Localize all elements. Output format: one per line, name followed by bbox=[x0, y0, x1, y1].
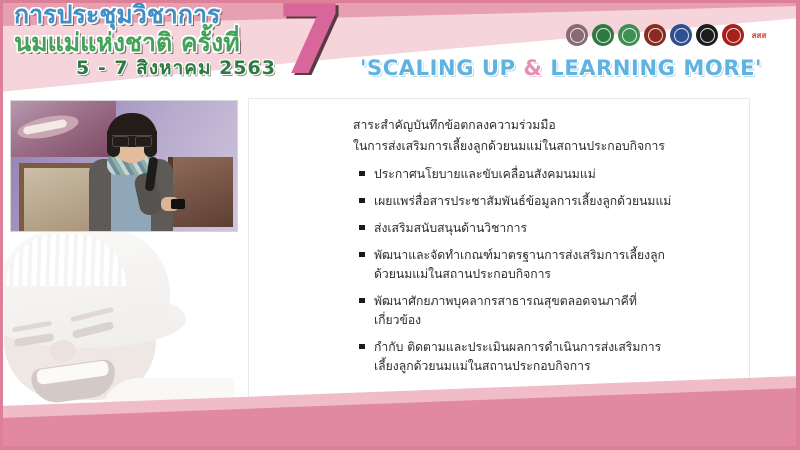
logo-thai-garuda-crest-icon bbox=[670, 24, 692, 46]
agreement-bullet-list: ประกาศนโยบายและขับเคลื่อนสังคมนมแม่เผยแพ… bbox=[357, 165, 739, 384]
tagline-part-1: 'SCALING UP bbox=[360, 56, 524, 80]
bullet-item: เผยแพร่สื่อสารประชาสัมพันธ์ข้อมูลการเลี้… bbox=[357, 192, 739, 211]
content-heading: สาระสำคัญบันทึกข้อตกลงความร่วมมือ ในการส… bbox=[353, 115, 735, 157]
conference-title-line-1: การประชุมวิชาการ bbox=[14, 2, 276, 28]
bullet-item: ประกาศนโยบายและขับเคลื่อนสังคมนมแม่ bbox=[357, 165, 739, 184]
conference-title-block: การประชุมวิชาการ นมแม่แห่งชาติ ครั้งที่ … bbox=[14, 2, 276, 78]
bullet-line-2: เกี่ยวข้อง bbox=[374, 311, 739, 330]
conference-tagline: 'SCALING UP & LEARNING MORE' bbox=[360, 56, 762, 80]
presentation-slide: 7 การประชุมวิชาการ นมแม่แห่งชาติ ครั้งที… bbox=[0, 0, 800, 450]
armchair-right bbox=[168, 157, 233, 227]
presenter-clicker-icon bbox=[171, 199, 185, 209]
bullet-line-1: พัฒนาศักยภาพบุคลากรสาธารณสุขตลอดจนภาคีที… bbox=[374, 292, 739, 311]
bullet-item: พัฒนาและจัดทำเกณฑ์มาตรฐานการส่งเสริมการเ… bbox=[357, 246, 739, 284]
tagline-ampersand: & bbox=[524, 56, 543, 80]
bullet-line-2: ด้วยนมแม่ในสถานประกอบกิจการ bbox=[374, 265, 739, 284]
bullet-item: กำกับ ติดตามและประเมินผลการดำเนินการส่งเ… bbox=[357, 338, 739, 376]
speaker-glasses-icon bbox=[112, 135, 152, 145]
content-heading-line-1: สาระสำคัญบันทึกข้อตกลงความร่วมมือ bbox=[353, 115, 735, 136]
bullet-line-1: กำกับ ติดตามและประเมินผลการดำเนินการส่งเ… bbox=[374, 338, 739, 357]
logo-thai-crest-red-icon bbox=[644, 24, 666, 46]
bullet-line-1: เผยแพร่สื่อสารประชาสัมพันธ์ข้อมูลการเลี้… bbox=[374, 192, 739, 211]
tagline-part-2: LEARNING MORE' bbox=[542, 56, 762, 80]
logo-royal-emblem-icon bbox=[566, 24, 588, 46]
speaker-video-feed[interactable] bbox=[10, 100, 238, 232]
bullet-line-1: พัฒนาและจัดทำเกณฑ์มาตรฐานการส่งเสริมการเ… bbox=[374, 246, 739, 265]
bullet-item: พัฒนาศักยภาพบุคลากรสาธารณสุขตลอดจนภาคีที… bbox=[357, 292, 739, 330]
conference-date: 5 - 7 สิงหาคม 2563 bbox=[76, 59, 276, 78]
bullet-item: ส่งเสริมสนับสนุนด้านวิชาการ bbox=[357, 219, 739, 238]
slide-bottom-band bbox=[0, 376, 800, 450]
logo-red-crest-icon bbox=[722, 24, 744, 46]
content-heading-line-2: ในการส่งเสริมการเลี้ยงลูกด้วยนมแม่ในสถาน… bbox=[353, 136, 735, 157]
conference-title-line-2: นมแม่แห่งชาติ ครั้งที่ bbox=[14, 30, 276, 56]
slide-content-panel: สาระสำคัญบันทึกข้อตกลงความร่วมมือ ในการส… bbox=[248, 98, 750, 402]
bullet-line-1: ประกาศนโยบายและขับเคลื่อนสังคมนมแม่ bbox=[374, 165, 739, 184]
logo-health-department-icon bbox=[618, 24, 640, 46]
logo-thaihealth-sss-icon: สสส bbox=[748, 24, 770, 46]
bullet-line-2: เลี้ยงลูกด้วยนมแม่ในสถานประกอบกิจการ bbox=[374, 357, 739, 376]
logo-black-seal-icon bbox=[696, 24, 718, 46]
bullet-line-1: ส่งเสริมสนับสนุนด้านวิชาการ bbox=[374, 219, 739, 238]
edition-number: 7 bbox=[277, 0, 341, 89]
sponsor-logo-strip: สสส bbox=[566, 24, 770, 46]
logo-ministry-of-health-icon bbox=[592, 24, 614, 46]
